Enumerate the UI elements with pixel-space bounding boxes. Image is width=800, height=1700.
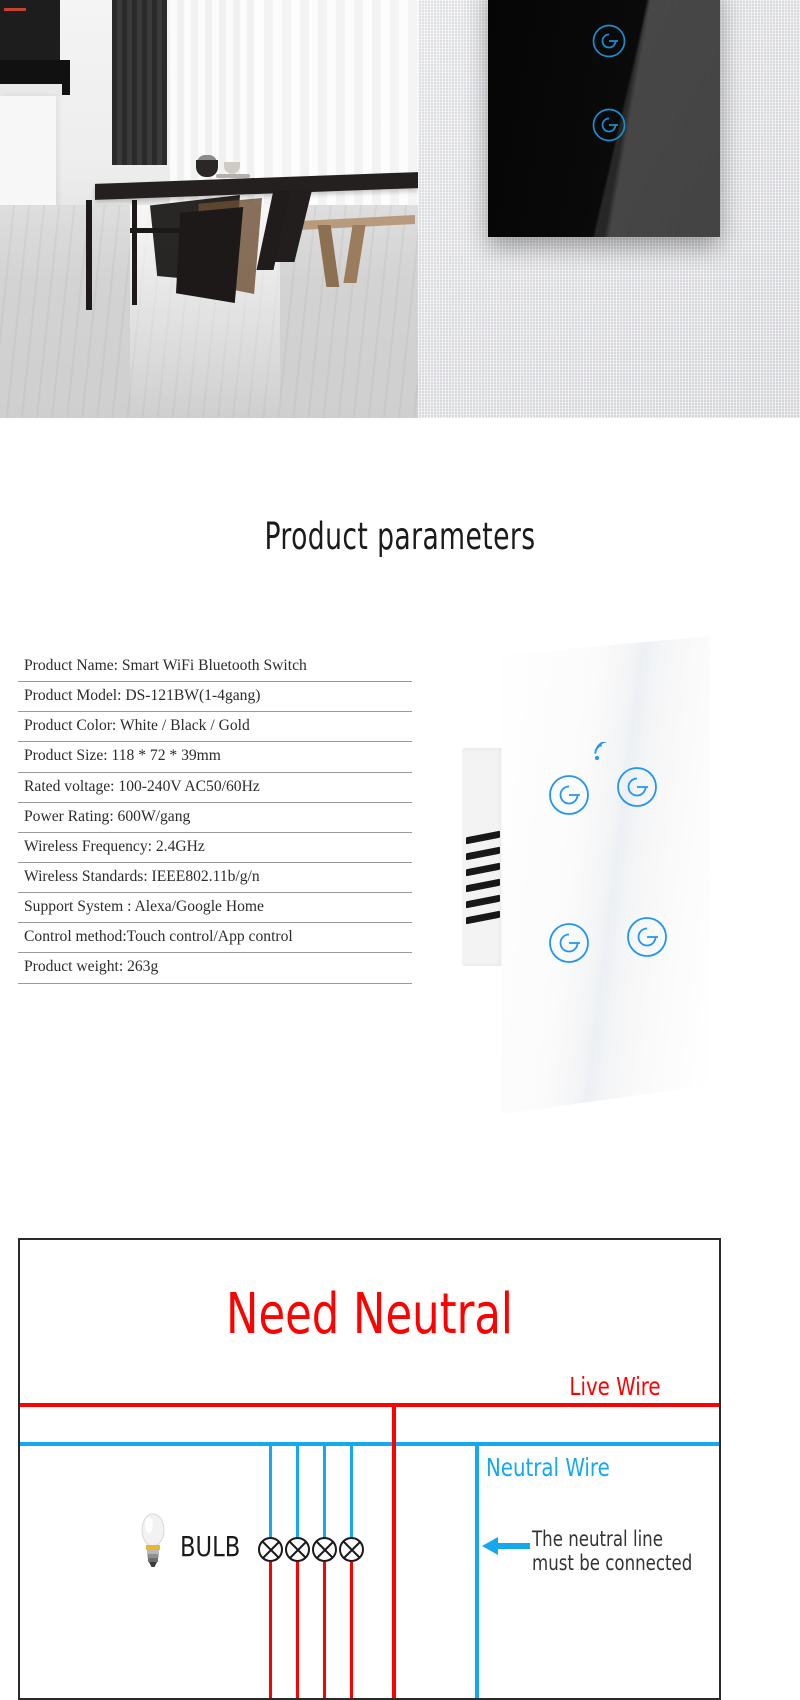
hero-banner xyxy=(0,0,800,418)
glass-edge-highlight xyxy=(488,636,710,1114)
live-wire-drop xyxy=(392,1403,396,1700)
black-touch-switch xyxy=(488,0,720,237)
neutral-wire-label: Neutral Wire xyxy=(486,1453,610,1482)
wifi-icon xyxy=(593,742,615,767)
lamp-symbol-icon xyxy=(285,1537,310,1562)
table-row: Product Size: 118 * 72 * 39mm xyxy=(18,742,412,772)
lamp-neutral-lead xyxy=(269,1446,272,1538)
table-row: Control method:Touch control/App control xyxy=(18,923,412,953)
dining-chair xyxy=(132,200,137,305)
live-wire-label: Live Wire xyxy=(570,1372,661,1401)
neutral-note-text: The neutral line must be connected xyxy=(532,1528,699,1575)
power-icon xyxy=(592,108,626,142)
dining-chair xyxy=(86,200,92,310)
lamp-live-lead xyxy=(296,1562,299,1700)
table-row: Product weight: 263g xyxy=(18,953,412,983)
table-row: Wireless Frequency: 2.4GHz xyxy=(18,833,412,863)
lamp-symbol-icon xyxy=(339,1537,364,1562)
table-row: Rated voltage: 100-240V AC50/60Hz xyxy=(18,773,412,803)
bulb-label: BULB xyxy=(180,1530,240,1563)
power-icon xyxy=(548,774,590,821)
dark-wall-panel xyxy=(112,0,167,165)
table-row: Product Name: Smart WiFi Bluetooth Switc… xyxy=(18,652,412,682)
lamp-symbol-icon xyxy=(258,1537,283,1562)
neutral-wire-drop xyxy=(475,1442,479,1700)
wall-scene-image xyxy=(418,0,800,418)
red-accent-line xyxy=(4,8,26,11)
section-title: Product parameters xyxy=(80,515,720,558)
power-icon xyxy=(626,916,668,963)
table-row: Wireless Standards: IEEE802.11b/g/n xyxy=(18,863,412,893)
lamp-live-lead xyxy=(350,1562,353,1700)
arrow-left-icon xyxy=(482,1535,530,1562)
diagram-heading: Need Neutral xyxy=(69,1282,670,1347)
lamp-live-lead xyxy=(323,1562,326,1700)
wiring-diagram: Need Neutral Live Wire Neutral Wire BULB… xyxy=(18,1238,721,1700)
live-wire-bus xyxy=(20,1403,721,1407)
lamp-neutral-lead xyxy=(323,1446,326,1538)
lamp-symbol-icon xyxy=(312,1537,337,1562)
interior-scene-image xyxy=(0,0,418,418)
power-icon xyxy=(616,766,658,813)
lamp-live-lead xyxy=(269,1562,272,1700)
dining-chair xyxy=(176,205,246,303)
power-icon xyxy=(548,922,590,969)
lamp-neutral-lead xyxy=(296,1446,299,1538)
plate xyxy=(216,174,250,178)
table-row: Support System : Alexa/Google Home xyxy=(18,893,412,923)
table-row: Power Rating: 600W/gang xyxy=(18,803,412,833)
counter-top xyxy=(0,84,62,96)
spec-table: Product Name: Smart WiFi Bluetooth Switc… xyxy=(18,652,412,984)
lamp-neutral-lead xyxy=(350,1446,353,1538)
light-bulb-icon xyxy=(138,1512,168,1575)
power-icon xyxy=(592,24,626,58)
table-row: Product Model: DS-121BW(1-4gang) xyxy=(18,682,412,712)
neutral-wire-bus xyxy=(20,1442,721,1446)
table-row: Product Color: White / Black / Gold xyxy=(18,712,412,742)
white-switch-product-image xyxy=(450,636,750,1126)
